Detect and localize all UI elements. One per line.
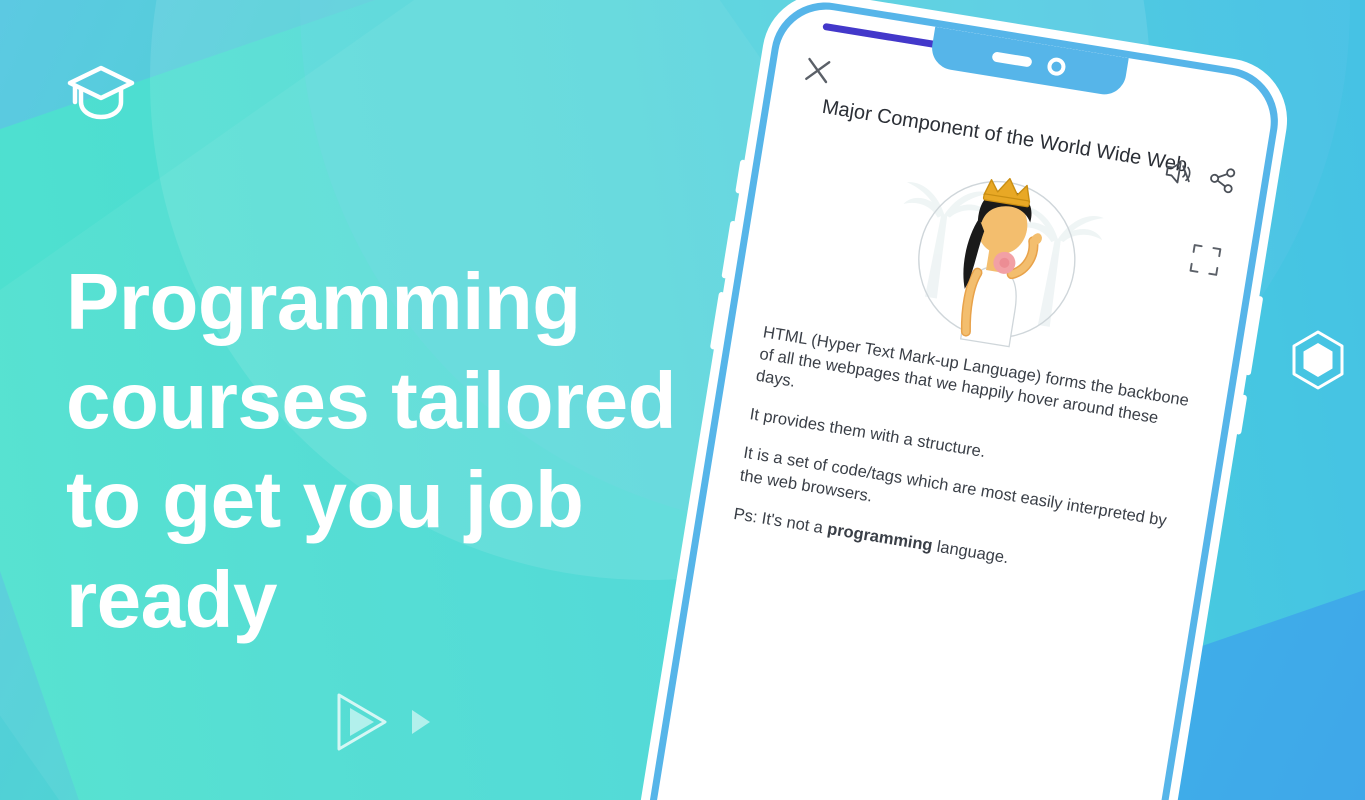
play-controls <box>336 692 432 757</box>
play-solid-icon[interactable] <box>410 708 432 741</box>
body-paragraph-4-bold: programming <box>826 520 934 555</box>
front-camera-icon <box>1046 56 1067 77</box>
share-icon[interactable] <box>1207 165 1238 200</box>
body-paragraph-4-post: language. <box>931 537 1010 567</box>
earpiece-speaker-icon <box>991 51 1032 67</box>
fullscreen-expand-icon[interactable] <box>1188 243 1222 277</box>
speaker-mute-icon[interactable] <box>1161 157 1194 192</box>
card-body-text: HTML (Hyper Text Mark-up Language) forms… <box>729 321 1203 612</box>
play-outline-icon[interactable] <box>336 692 388 757</box>
body-paragraph-4-pre: Ps: It's not a <box>732 505 829 538</box>
phone-notch <box>929 27 1129 98</box>
woman-with-crown-illustration <box>853 148 1140 368</box>
close-icon[interactable] <box>802 54 834 86</box>
hexagon-icon <box>1290 330 1346 390</box>
graduation-cap-icon <box>66 62 136 124</box>
page-title: Programming courses tailored to get you … <box>66 252 766 649</box>
